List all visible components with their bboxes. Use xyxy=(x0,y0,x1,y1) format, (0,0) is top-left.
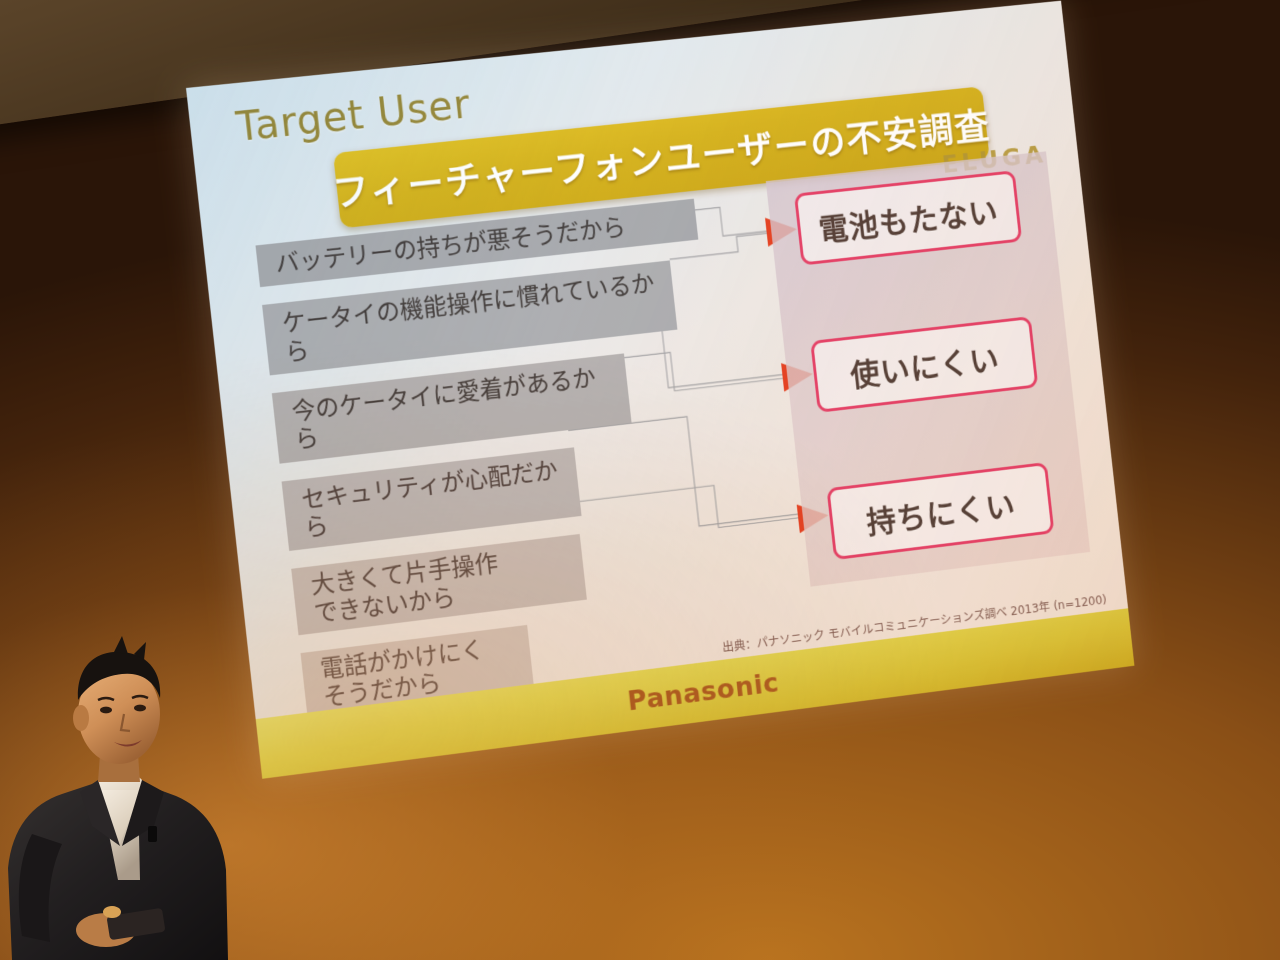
reason-bar-label: バッテリーの持ちが悪そうだから xyxy=(274,213,627,279)
hair-spike xyxy=(114,636,128,654)
thumb xyxy=(103,906,121,918)
reason-bar: 大きくて片手操作 できないから xyxy=(291,534,587,635)
answer-panel: 電池もたない 使いにくい 持ちにくい xyxy=(766,151,1090,586)
reason-bar-list: バッテリーの持ちが悪そうだから ケータイの機能操作に慣れているから 今のケータイ… xyxy=(255,197,764,737)
answer-box-label: 使いにくい xyxy=(848,334,1002,395)
reason-bar-label: 大きくて片手操作 できないから xyxy=(310,549,503,628)
reason-bar: 今のケータイに愛着があるから xyxy=(272,353,632,463)
eye-left xyxy=(100,707,112,714)
answer-box: 持ちにくい xyxy=(826,462,1054,560)
slide-title: Target User xyxy=(234,82,473,151)
answer-box: 電池もたない xyxy=(794,170,1022,265)
reason-bar-label: セキュリティが心配だから xyxy=(300,456,563,542)
ear xyxy=(73,705,89,731)
eye-right xyxy=(134,705,146,712)
reason-bar-label: ケータイの機能操作に慣れているから xyxy=(281,269,660,366)
answer-box-label: 電池もたない xyxy=(816,186,1000,249)
answer-box: 使いにくい xyxy=(810,316,1038,413)
projected-slide: Target User フィーチャーフォンユーザーの不安調査 ELUGA xyxy=(186,1,1134,779)
lapel-microphone xyxy=(148,826,157,842)
panasonic-logo: Panasonic xyxy=(626,667,780,717)
answer-box-label: 持ちにくい xyxy=(864,480,1017,541)
presenter-figure xyxy=(0,630,288,960)
reason-bar-label: 今のケータイに愛着があるから xyxy=(290,362,613,454)
slide-content-board: バッテリーの持ちが悪そうだから ケータイの機能操作に慣れているから 今のケータイ… xyxy=(254,147,1099,681)
stage-scene: Target User フィーチャーフォンユーザーの不安調査 ELUGA xyxy=(0,0,1280,960)
reason-bar: セキュリティが心配だから xyxy=(282,447,582,551)
